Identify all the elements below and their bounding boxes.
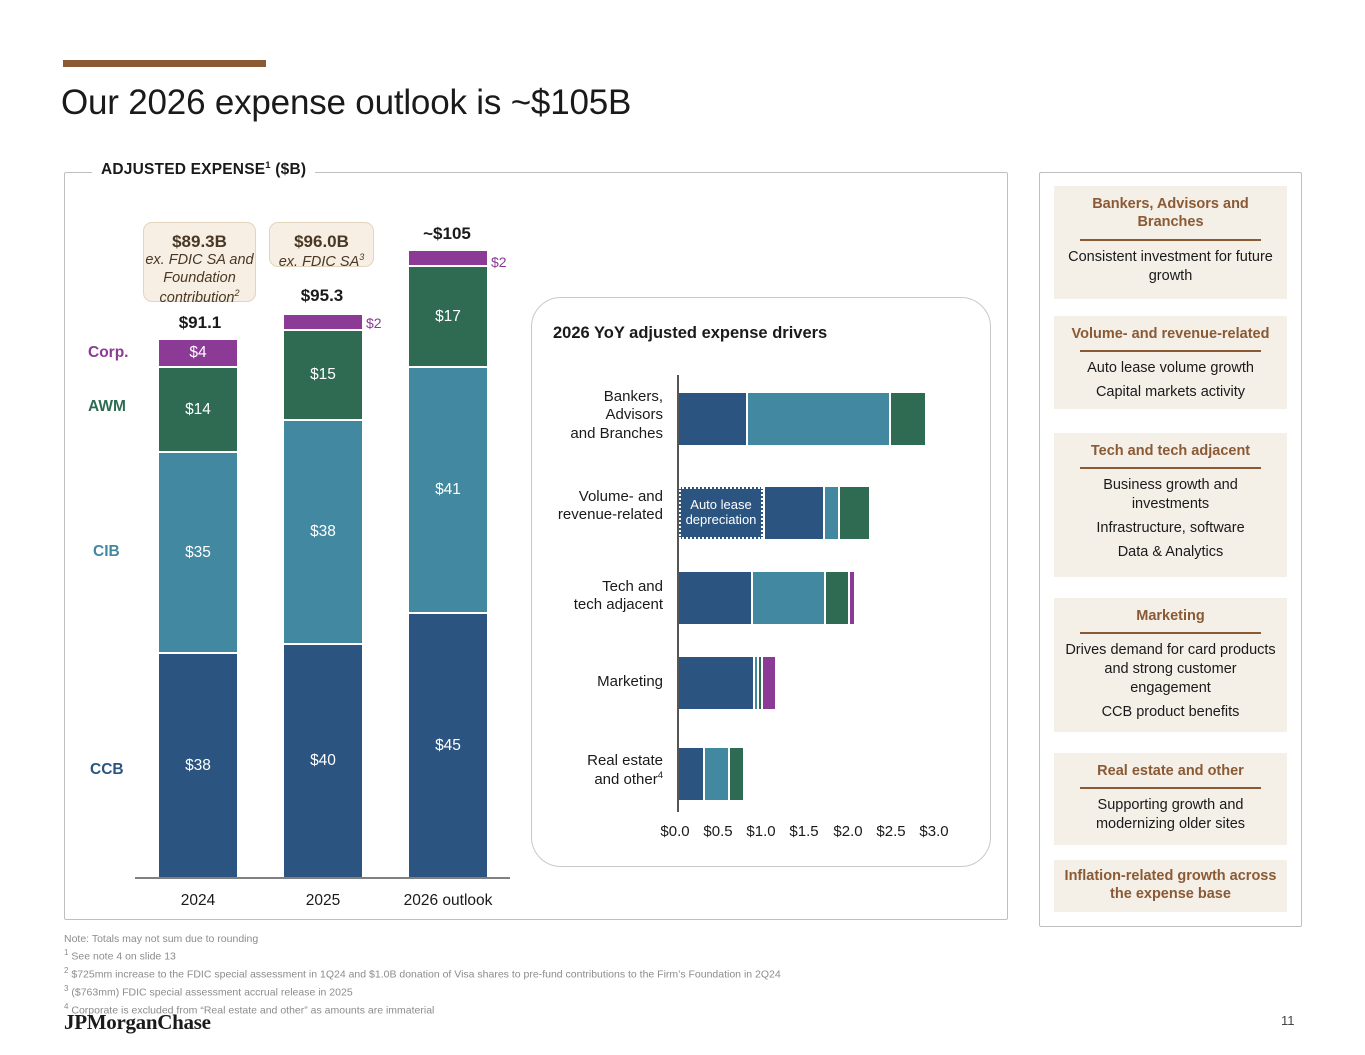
yoy-seg-volume-ccb xyxy=(763,487,823,539)
yoy-row-label-bankers-l1: Bankers, xyxy=(493,388,663,406)
driver-card-realestate-item-0: Supporting growth and modernizing older … xyxy=(1064,796,1277,834)
x-label-2025: 2025 xyxy=(273,892,373,910)
jpmorganchase-logo: JPMorganChase xyxy=(64,1010,211,1035)
yoy-row-label-marketing: Marketing xyxy=(493,673,663,691)
driver-card-volume-item-0: Auto lease volume growth xyxy=(1064,359,1277,378)
driver-card-tech-title: Tech and tech adjacent xyxy=(1064,442,1277,460)
yoy-row-label-realestate-l1: Real estate xyxy=(493,752,663,770)
bar-segment-2025-ccb: $40 xyxy=(284,643,362,877)
yoy-row-label-bankers-l2: Advisors xyxy=(493,406,663,424)
yoy-row-label-realestate-l2-text: and other xyxy=(594,771,657,788)
yoy-row-label-realestate: Real estate and other4 xyxy=(493,752,663,790)
driver-card-volume: Volume- and revenue-related Auto lease v… xyxy=(1054,316,1287,409)
callout-2024-value: $89.3B xyxy=(144,231,255,252)
bar-segment-2025-corp xyxy=(284,315,362,329)
driver-card-bankers: Bankers, Advisors and Branches Consisten… xyxy=(1054,186,1287,299)
yoy-seg-bankers-awm xyxy=(889,393,925,445)
driver-card-volume-separator xyxy=(1080,350,1261,352)
x-label-2026: 2026 outlook xyxy=(383,892,513,910)
footnote-2: 2 $725mm increase to the FDIC special as… xyxy=(64,964,1064,982)
yoy-seg-realestate-ccb xyxy=(679,748,703,800)
driver-card-marketing-separator xyxy=(1080,632,1261,634)
yoy-seg-realestate-cib xyxy=(703,748,728,800)
yoy-seg-tech-ccb xyxy=(679,572,751,624)
yoy-bar-realestate xyxy=(679,748,743,800)
bar-segment-2026-awm: $17 xyxy=(409,265,487,366)
yoy-seg-tech-corp xyxy=(848,572,854,624)
yoy-row-label-marketing-l1: Marketing xyxy=(493,673,663,691)
yoy-row-label-realestate-sup: 4 xyxy=(658,770,663,781)
yoy-bar-marketing xyxy=(679,657,775,709)
footnote-2-text: $725mm increase to the FDIC special asse… xyxy=(71,969,780,981)
footnote-3-text: ($763mm) FDIC special assessment accrual… xyxy=(71,986,352,998)
bar-column-2025: $15 $38 $40 xyxy=(284,315,362,877)
driver-card-tech: Tech and tech adjacent Business growth a… xyxy=(1054,433,1287,577)
bar-segment-2025-cib: $38 xyxy=(284,419,362,643)
bar-side-label-2025-corp: $2 xyxy=(366,315,382,331)
bar-label-2024-awm: $14 xyxy=(185,401,211,419)
yoy-seg-realestate-awm xyxy=(728,748,743,800)
driver-card-realestate: Real estate and other Supporting growth … xyxy=(1054,753,1287,845)
bar-column-2026: $17 $41 $45 xyxy=(409,251,487,877)
callout-2024-note: ex. FDIC SA and Foundation contribution2 xyxy=(144,252,255,307)
driver-card-realestate-separator xyxy=(1080,787,1261,789)
yoy-row-label-bankers: Bankers, Advisors and Branches xyxy=(493,388,663,443)
total-2025: $95.3 xyxy=(272,286,372,306)
bar-segment-2026-cib: $41 xyxy=(409,366,487,612)
bar-segment-2024-awm: $14 xyxy=(159,366,237,451)
bar-label-2024-corp: $4 xyxy=(189,344,206,362)
bar-segment-2024-cib: $35 xyxy=(159,451,237,652)
driver-card-volume-item-1: Capital markets activity xyxy=(1064,383,1277,402)
yoy-row-label-tech-l2: tech adjacent xyxy=(493,596,663,614)
driver-card-tech-separator xyxy=(1080,467,1261,469)
footnote-note: Note: Totals may not sum due to rounding xyxy=(64,932,1064,946)
series-label-awm: AWM xyxy=(88,398,126,416)
driver-card-marketing: Marketing Drives demand for card product… xyxy=(1054,598,1287,732)
callout-2025-note-sup: 3 xyxy=(359,252,364,262)
driver-card-tech-item-2: Data & Analytics xyxy=(1064,543,1277,562)
yoy-bar-bankers xyxy=(679,393,925,445)
bar-segment-2026-ccb: $45 xyxy=(409,612,487,877)
bar-label-2025-cib: $38 xyxy=(310,523,336,541)
page-title: Our 2026 expense outlook is ~$105B xyxy=(61,83,631,123)
total-2024: $91.1 xyxy=(150,313,250,333)
bar-segment-2024-ccb: $38 xyxy=(159,652,237,877)
x-label-2024: 2024 xyxy=(148,892,248,910)
driver-card-volume-title: Volume- and revenue-related xyxy=(1064,325,1277,343)
bar-label-2024-ccb: $38 xyxy=(185,757,211,775)
footnote-4: 4 Corporate is excluded from “Real estat… xyxy=(64,1000,1064,1018)
footnote-1-text: See note 4 on slide 13 xyxy=(71,951,176,963)
driver-card-bankers-separator xyxy=(1080,239,1261,241)
callout-2025-note-text: ex. FDIC SA xyxy=(279,254,360,270)
driver-card-inflation: Inflation-related growth across the expe… xyxy=(1054,860,1287,912)
bar-label-2025-awm: $15 xyxy=(310,366,336,384)
bar-segment-2026-corp xyxy=(409,251,487,265)
yoy-xtick-6: $3.0 xyxy=(904,823,964,840)
yoy-seg-volume-awm xyxy=(838,487,869,539)
driver-card-realestate-title: Real estate and other xyxy=(1064,762,1277,780)
driver-card-tech-item-1: Infrastructure, software xyxy=(1064,519,1277,538)
bar-segment-2025-awm: $15 xyxy=(284,329,362,419)
bar-label-2025-ccb: $40 xyxy=(310,752,336,770)
bar-label-2024-cib: $35 xyxy=(185,544,211,562)
yoy-seg-bankers-cib xyxy=(746,393,889,445)
bar-segment-2024-corp: $4 xyxy=(159,340,237,366)
yoy-seg-marketing-ccb xyxy=(679,657,753,709)
callout-2024-note-sup: 2 xyxy=(234,288,239,298)
yoy-drivers-title: 2026 YoY adjusted expense drivers xyxy=(553,324,827,343)
yoy-seg-volume-autolease: Auto lease depreciation xyxy=(679,487,763,539)
driver-card-marketing-item-1: CCB product benefits xyxy=(1064,703,1277,722)
series-label-corp: Corp. xyxy=(88,344,128,362)
driver-card-marketing-title: Marketing xyxy=(1064,607,1277,625)
bar-side-label-2026-corp: $2 xyxy=(491,254,507,270)
callout-2025-value: $96.0B xyxy=(270,231,373,252)
yoy-row-label-tech-l1: Tech and xyxy=(493,578,663,596)
yoy-seg-bankers-ccb xyxy=(679,393,746,445)
yoy-bar-tech xyxy=(679,572,854,624)
yoy-row-label-bankers-l3: and Branches xyxy=(493,425,663,443)
auto-lease-depreciation-label: Auto lease depreciation xyxy=(681,498,761,528)
yoy-row-label-volume-l2: revenue-related xyxy=(493,506,663,524)
driver-card-bankers-item-0: Consistent investment for future growth xyxy=(1064,248,1277,286)
bar-label-2026-ccb: $45 xyxy=(435,737,461,755)
yoy-seg-tech-awm xyxy=(824,572,848,624)
bar-chart-baseline xyxy=(135,877,510,879)
driver-card-tech-item-0: Business growth and investments xyxy=(1064,476,1277,514)
driver-card-inflation-title: Inflation-related growth across the expe… xyxy=(1064,867,1277,904)
footnotes: Note: Totals may not sum due to rounding… xyxy=(64,932,1064,1017)
yoy-seg-marketing-corp xyxy=(761,657,775,709)
bar-label-2026-cib: $41 xyxy=(435,481,461,499)
footnote-1: 1 See note 4 on slide 13 xyxy=(64,946,1064,964)
series-label-cib: CIB xyxy=(93,543,120,561)
yoy-seg-volume-cib xyxy=(823,487,838,539)
total-2026: ~$105 xyxy=(397,224,497,244)
footnote-3: 3 ($763mm) FDIC special assessment accru… xyxy=(64,982,1064,1000)
driver-card-bankers-title: Bankers, Advisors and Branches xyxy=(1064,195,1277,232)
accent-rule xyxy=(63,60,266,67)
bar-label-2026-awm: $17 xyxy=(435,308,461,326)
yoy-row-label-volume: Volume- and revenue-related xyxy=(493,488,663,525)
series-label-ccb: CCB xyxy=(90,761,124,779)
page-number: 11 xyxy=(1281,1013,1295,1028)
yoy-bar-volume: Auto lease depreciation xyxy=(679,487,869,539)
yoy-seg-tech-cib xyxy=(751,572,824,624)
yoy-row-label-realestate-l2: and other4 xyxy=(493,770,663,789)
yoy-row-label-volume-l1: Volume- and xyxy=(493,488,663,506)
callout-2025: $96.0B ex. FDIC SA3 xyxy=(269,222,374,267)
callout-2024: $89.3B ex. FDIC SA and Foundation contri… xyxy=(143,222,256,302)
callout-2025-note: ex. FDIC SA3 xyxy=(270,252,373,272)
yoy-row-label-tech: Tech and tech adjacent xyxy=(493,578,663,615)
bar-column-2024: $4 $14 $35 $38 xyxy=(159,340,237,877)
driver-card-marketing-item-0: Drives demand for card products and stro… xyxy=(1064,641,1277,698)
